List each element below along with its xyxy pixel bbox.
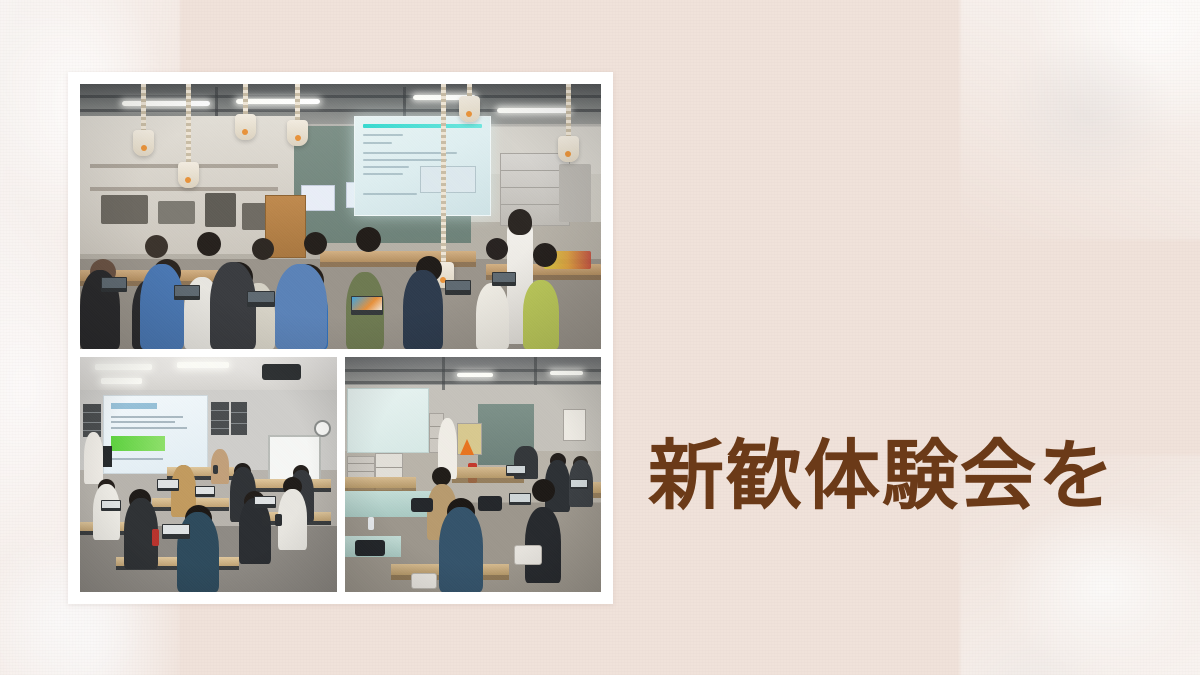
title-line-1: 新歓体験会を [648,428,1148,524]
photo-top [80,84,601,349]
slide-canvas: 新歓体験会を 開催しました [0,0,1200,675]
photo-bottom-left [80,357,337,592]
photo-collage [68,72,613,604]
photo-bottom-right [345,357,602,592]
page-title: 新歓体験会を 開催しました [648,236,1148,675]
watercolor-wash-top-right-icon [960,0,1200,240]
